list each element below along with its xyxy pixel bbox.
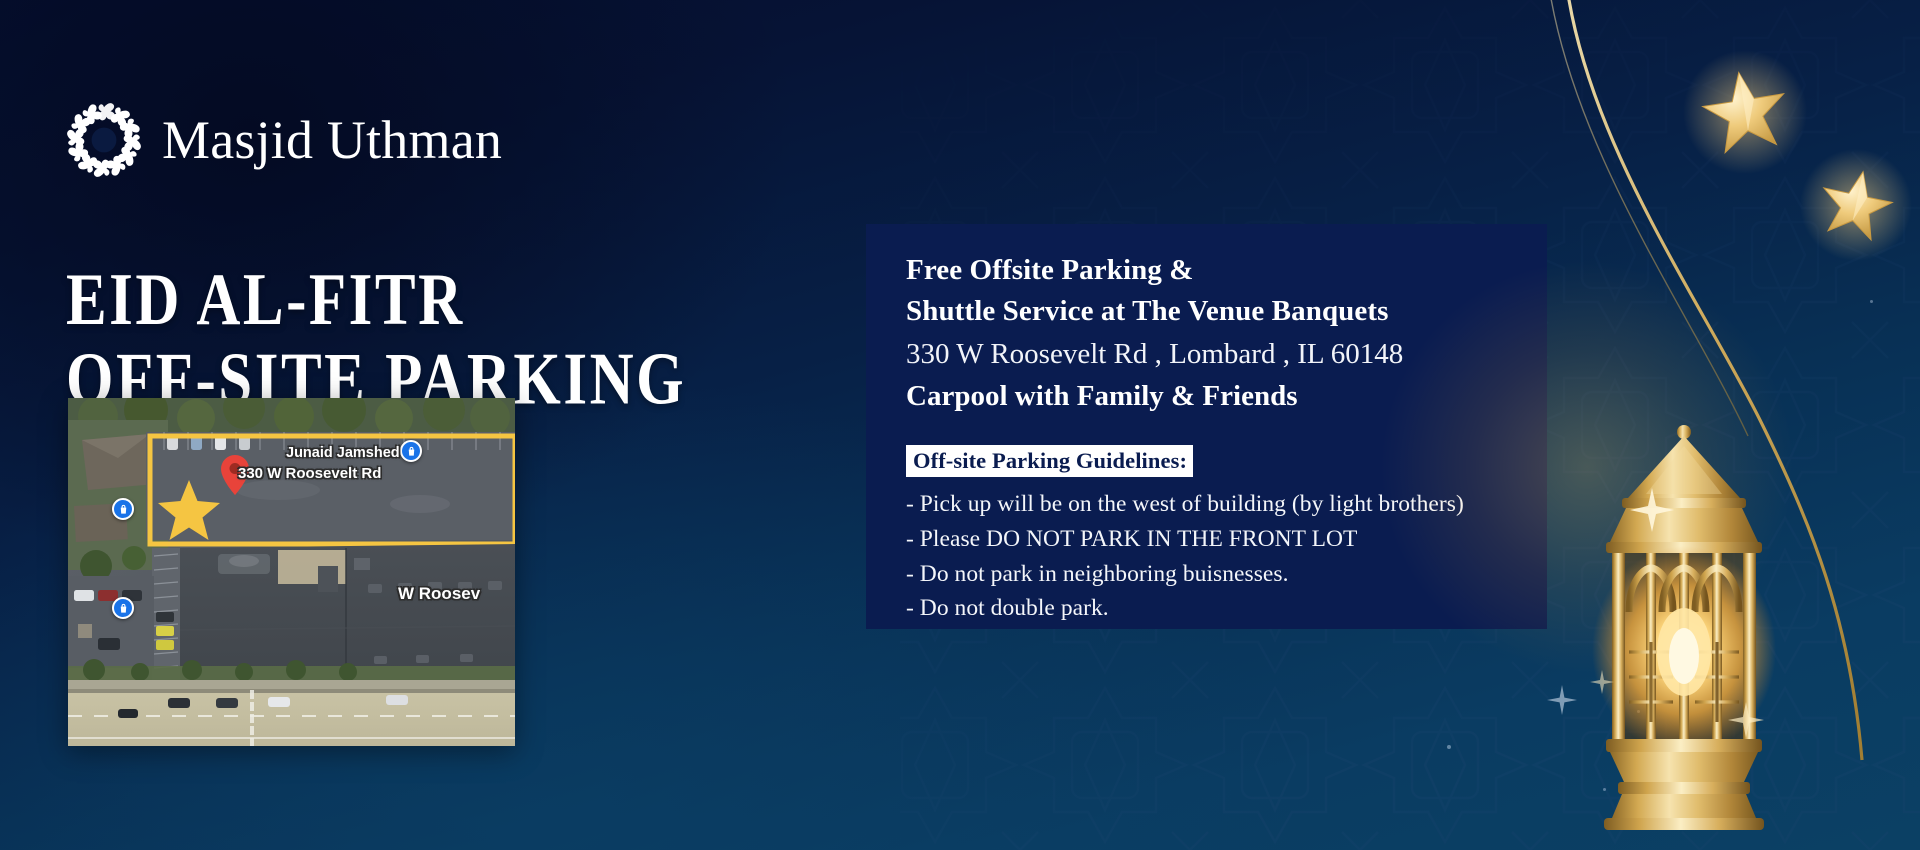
- shopping-bag-icon[interactable]: [400, 440, 422, 462]
- map-label-store: Junaid Jamshed: [286, 445, 400, 461]
- brand-logo: Masjid Uthman: [64, 100, 502, 180]
- islamic-calligraphy-mandala-icon: [64, 100, 144, 180]
- guideline-item: - Do not park in neighboring buisnesses.: [906, 557, 1547, 592]
- guideline-item: - Please DO NOT PARK IN THE FRONT LOT: [906, 522, 1547, 557]
- star-dot: [1637, 710, 1640, 713]
- info-heading-line-1: Free Offsite Parking &: [906, 250, 1547, 291]
- star-dot: [1716, 803, 1720, 807]
- ramadan-lantern-icon: [1534, 402, 1834, 832]
- brand-name: Masjid Uthman: [162, 113, 502, 167]
- guidelines-title: Off-site Parking Guidelines:: [906, 445, 1193, 477]
- info-heading-line-2: Shuttle Service at The Venue Banquets: [906, 291, 1547, 332]
- guideline-item: - Pick up will be on the west of buildin…: [906, 487, 1547, 522]
- guideline-item: - Do not double park.: [906, 591, 1547, 626]
- star-dot: [1603, 788, 1606, 791]
- shopping-bag-icon[interactable]: [112, 597, 134, 619]
- eid-parking-poster: Masjid Uthman EID AL-FITR OFF-SITE PARKI…: [0, 0, 1920, 850]
- page-title: EID AL-FITR OFF-SITE PARKING: [66, 262, 686, 420]
- sparkle-small-icon: [1650, 645, 1670, 665]
- star-dot: [1447, 745, 1451, 749]
- star-dot: [1870, 300, 1873, 303]
- info-carpool: Carpool with Family & Friends: [906, 376, 1547, 417]
- info-panel: Free Offsite Parking & Shuttle Service a…: [866, 224, 1547, 629]
- guidelines-title-wrap: Off-site Parking Guidelines:: [906, 445, 1547, 477]
- info-address: 330 W Roosevelt Rd , Lombard , IL 60148: [906, 334, 1547, 375]
- guidelines-list: - Pick up will be on the west of buildin…: [906, 487, 1547, 626]
- sparkle-cross-icon: [1545, 683, 1579, 717]
- satellite-map[interactable]: Junaid Jamshed 330 W Roosevelt Rd W Roos…: [68, 398, 515, 746]
- map-label-road: W Roosev: [398, 584, 480, 604]
- shopping-bag-icon[interactable]: [112, 498, 134, 520]
- headline-line-1: EID AL-FITR: [66, 260, 465, 342]
- map-label-address: 330 W Roosevelt Rd: [238, 465, 381, 482]
